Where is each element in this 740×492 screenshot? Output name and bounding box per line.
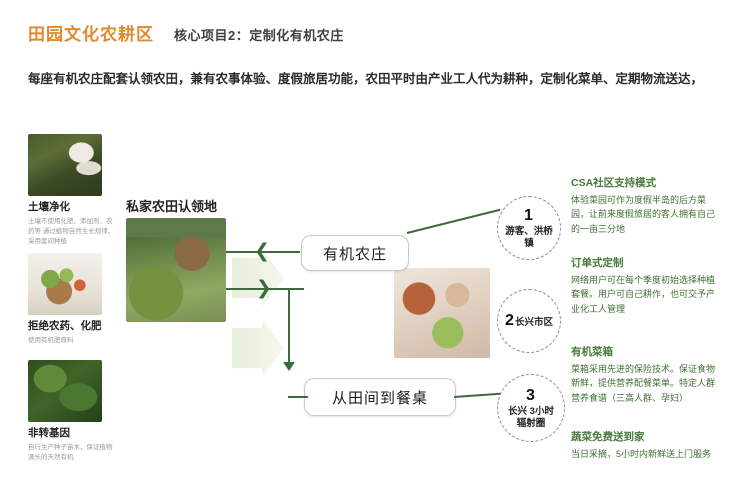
feature-text: 使用有机肥原料 — [28, 336, 116, 346]
feature-card-non-gmo: 非转基因 自行生产种子苗木，保证植物源头的天然有机 — [28, 360, 132, 463]
family-dining-photo — [394, 268, 490, 358]
circle-tier-3: 3 长兴 3小时 辐射圈 — [497, 374, 565, 442]
info-block-text: 体验菜园可作为度假半岛的后方菜园，让前来度假旅居的客人拥有自己的一亩三分地 — [571, 193, 723, 237]
circle-tier-1: 1 游客、洪桥镇 — [497, 196, 561, 260]
zone-title: 田园文化农耕区 — [28, 20, 154, 45]
chevron-right-icon: ❯ — [256, 279, 272, 298]
info-block-title: 订单式定制 — [571, 256, 723, 271]
feature-text: 土壤不使用化肥、添加剂、农药等 通过植物自然生长规律、采用套间种植 — [28, 217, 116, 247]
private-farm-plot-photo — [126, 218, 226, 322]
feature-card-no-pesticide: 拒绝农药、化肥 使用有机肥原料 — [28, 253, 132, 346]
organic-vegetable-box-photo — [28, 253, 102, 315]
plot-title: 私家农田认领地 — [126, 196, 217, 215]
feature-title: 土壤净化 — [28, 201, 132, 214]
slide-header: 田园文化农耕区 核心项目2：定制化有机农庄 — [28, 20, 344, 45]
info-block-custom-order: 订单式定制 网络用户可在每个季度初始选择种植套餐。用户可自己耕作，也可交予产业化… — [571, 256, 723, 316]
feature-title: 非转基因 — [28, 427, 132, 440]
circle-tier-2: 2 长兴市区 — [497, 289, 561, 353]
info-block-organic-box: 有机菜箱 菜箱采用先进的保险技术。保证食物新鲜，提供营养配餐菜单。特定人群营养食… — [571, 345, 723, 405]
circle-number: 3 — [526, 386, 535, 406]
info-block-title: CSA社区支持模式 — [571, 176, 723, 191]
connector-arrowhead-down-icon — [283, 362, 295, 371]
project-title: 核心项目2：定制化有机农庄 — [174, 25, 344, 44]
soil-purification-photo — [28, 134, 102, 196]
circle-number: 2 — [505, 311, 514, 331]
info-block-text: 当日采摘，5小时内新鲜送上门服务 — [571, 447, 723, 462]
circle-label: 游客、洪桥镇 — [502, 226, 556, 250]
info-block-text: 菜箱采用先进的保险技术。保证食物新鲜，提供营养配餐菜单。特定人群营养食谱（三高人… — [571, 362, 723, 406]
flow-arrow-lower-icon — [232, 320, 284, 376]
non-gmo-leaf-photo — [28, 360, 102, 422]
info-block-title: 蔬菜免费送到家 — [571, 430, 723, 445]
connector-line-table-lower — [288, 396, 308, 398]
pill-farm-to-table[interactable]: 从田间到餐桌 — [304, 378, 456, 416]
pill-organic-farm[interactable]: 有机农庄 — [301, 235, 409, 271]
circle-label: 长兴 3小时 辐射圈 — [502, 406, 560, 430]
chevron-left-icon: ❮ — [254, 242, 270, 261]
connector-line-pill-to-circle1 — [407, 209, 501, 234]
intro-paragraph: 每座有机农庄配套认领农田，兼有农事体验、度假旅居功能，农田平时由产业工人代为耕种… — [28, 68, 718, 91]
info-block-title: 有机菜箱 — [571, 345, 723, 360]
feature-text: 自行生产种子苗木，保证植物源头的天然有机 — [28, 443, 116, 463]
circle-number: 1 — [524, 206, 533, 226]
info-block-text: 网络用户可在每个季度初始选择种植套餐。用户可自己耕作，也可交予产业化工人管理 — [571, 273, 723, 317]
connector-line-vertical — [288, 288, 290, 364]
info-block-free-delivery: 蔬菜免费送到家 当日采摘，5小时内新鲜送上门服务 — [571, 430, 723, 461]
feature-card-soil: 土壤净化 土壤不使用化肥、添加剂、农药等 通过植物自然生长规律、采用套间种植 — [28, 134, 132, 247]
feature-title: 拒绝农药、化肥 — [28, 320, 132, 333]
info-block-csa: CSA社区支持模式 体验菜园可作为度假半岛的后方菜园，让前来度假旅居的客人拥有自… — [571, 176, 723, 236]
slide-canvas: 田园文化农耕区 核心项目2：定制化有机农庄 每座有机农庄配套认领农田，兼有农事体… — [0, 0, 740, 492]
circle-label: 长兴市区 — [515, 317, 553, 329]
